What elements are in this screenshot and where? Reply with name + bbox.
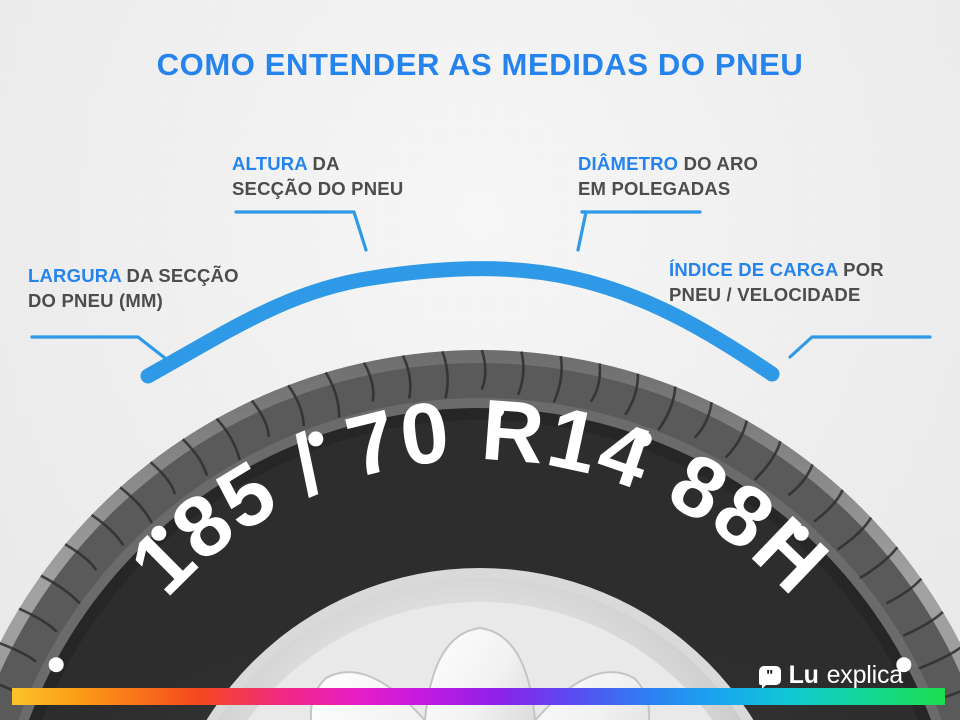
quote-bubble-icon: " [759, 666, 781, 685]
tire-graphic [0, 0, 960, 720]
rainbow-gradient-bar [12, 688, 945, 705]
logo-brand-suffix: explica [827, 661, 903, 690]
tire-illustration [0, 0, 960, 720]
lu-explica-logo[interactable]: " Lu explica [759, 661, 903, 690]
infographic-canvas: 185 / 70 R14 88H 185 70 [0, 0, 960, 720]
logo-brand: Lu [789, 661, 819, 690]
